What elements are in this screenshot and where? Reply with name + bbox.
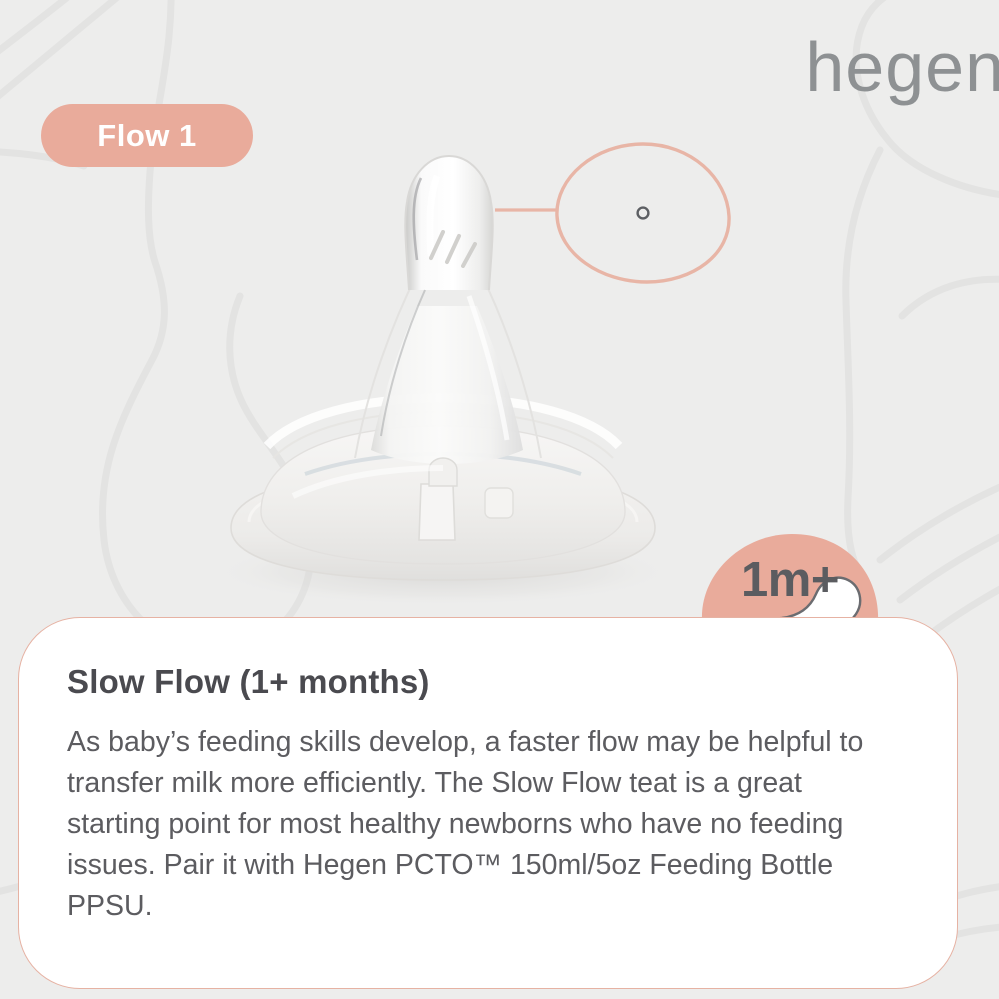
info-card-body: As baby’s feeding skills develop, a fast… [67, 722, 887, 927]
info-card: Slow Flow (1+ months) As baby’s feeding … [18, 617, 958, 989]
info-card-heading: Slow Flow (1+ months) [67, 663, 430, 701]
teat-hole-dot [638, 208, 649, 219]
teat-hole-callout [495, 130, 755, 310]
callout-squircle [557, 144, 729, 282]
age-badge-label: 1m+ [700, 552, 880, 608]
flow-badge: Flow 1 [41, 104, 253, 167]
flow-badge-label: Flow 1 [97, 118, 196, 154]
teat-product-photo [185, 140, 705, 610]
product-info-graphic: Flow 1 hegen [0, 0, 999, 999]
hegen-logo: hegen [805, 32, 999, 102]
